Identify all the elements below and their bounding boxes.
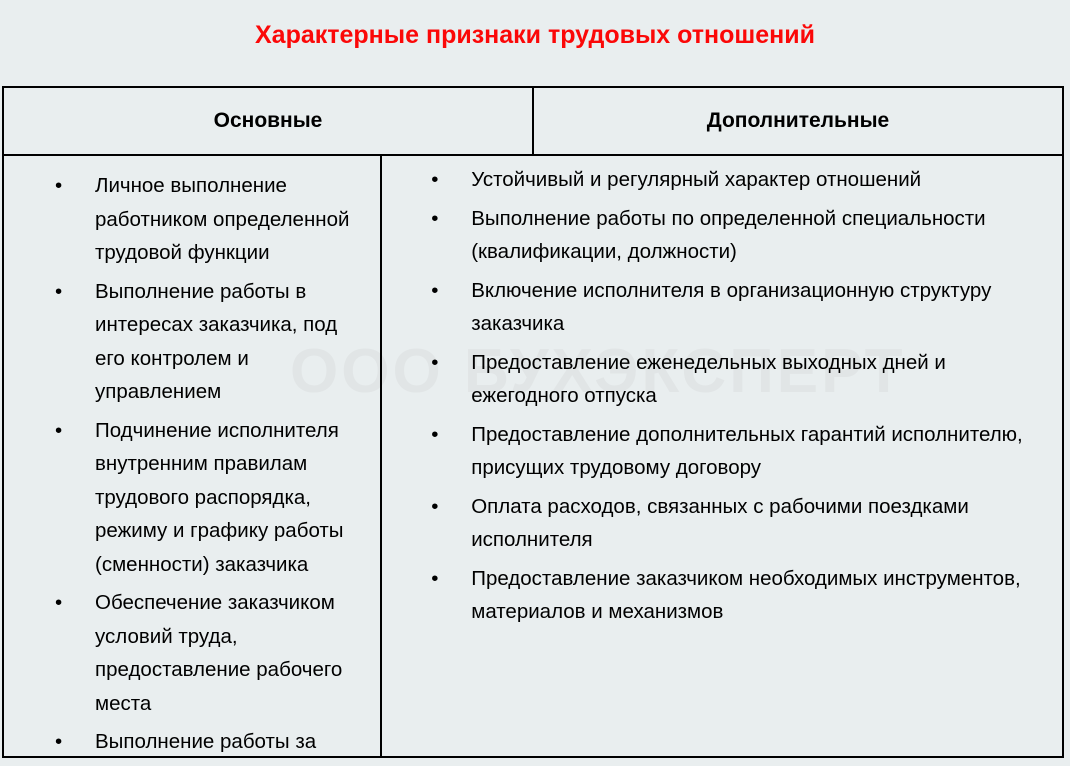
list-item: • Предоставление дополнительных гарантий… <box>382 418 1062 485</box>
comparison-table: Основные Дополнительные • Личное выполне… <box>2 86 1064 758</box>
list-item-label: Устойчивый и регулярный характер отношен… <box>471 163 1044 197</box>
list-item: • Личное выполнение работником определен… <box>4 169 380 270</box>
list-item: • Включение исполнителя в организационну… <box>382 274 1062 341</box>
list-item-label: Предоставление еженедельных выходных дне… <box>471 346 1044 413</box>
list-item: • Устойчивый и регулярный характер отнош… <box>382 163 1062 197</box>
list-item: • Предоставление заказчиком необходимых … <box>382 562 1062 629</box>
list-item: • Выполнение работы в интересах заказчик… <box>4 275 380 409</box>
table-header-row: Основные Дополнительные <box>4 88 1062 156</box>
list-item-label: Личное выполнение работником определенно… <box>95 169 362 270</box>
bullet-icon: • <box>431 490 438 524</box>
bullet-icon: • <box>431 418 438 452</box>
bullet-icon: • <box>55 414 62 448</box>
bullet-icon: • <box>55 169 62 203</box>
list-item-label: Выполнение работы по определенной специа… <box>471 202 1044 269</box>
table-cell-additional: • Устойчивый и регулярный характер отнош… <box>382 156 1062 756</box>
list-item-label: Выполнение работы за плату, выплачиваему… <box>95 725 362 756</box>
bullet-icon: • <box>55 725 62 756</box>
bullet-icon: • <box>431 346 438 380</box>
table-body-row: • Личное выполнение работником определен… <box>4 156 1062 756</box>
list-item-label: Подчинение исполнителя внутренним правил… <box>95 414 362 582</box>
list-item-label: Оплата расходов, связанных с рабочими по… <box>471 490 1044 557</box>
list-item: • Выполнение работы по определенной спец… <box>382 202 1062 269</box>
list-item: • Предоставление еженедельных выходных д… <box>382 346 1062 413</box>
list-item: • Обеспечение заказчиком условий труда, … <box>4 586 380 720</box>
main-signs-list: • Личное выполнение работником определен… <box>4 169 380 756</box>
list-item: • Выполнение работы за плату, выплачивае… <box>4 725 380 756</box>
list-item-label: Предоставление заказчиком необходимых ин… <box>471 562 1044 629</box>
list-item: • Подчинение исполнителя внутренним прав… <box>4 414 380 582</box>
bullet-icon: • <box>431 274 438 308</box>
table-cell-main: • Личное выполнение работником определен… <box>4 156 382 756</box>
page-root: ООО БУХЭКСПЕРТ Характерные признаки труд… <box>0 0 1070 766</box>
page-title: Характерные признаки трудовых отношений <box>0 21 1070 50</box>
bullet-icon: • <box>55 275 62 309</box>
additional-signs-list: • Устойчивый и регулярный характер отнош… <box>382 163 1062 629</box>
table-header-cell-main: Основные <box>4 88 534 154</box>
bullet-icon: • <box>431 202 438 236</box>
table-header-cell-additional: Дополнительные <box>534 88 1062 154</box>
list-item: • Оплата расходов, связанных с рабочими … <box>382 490 1062 557</box>
list-item-label: Предоставление дополнительных гарантий и… <box>471 418 1044 485</box>
list-item-label: Выполнение работы в интересах заказчика,… <box>95 275 362 409</box>
bullet-icon: • <box>55 586 62 620</box>
bullet-icon: • <box>431 163 438 197</box>
list-item-label: Включение исполнителя в организационную … <box>471 274 1044 341</box>
list-item-label: Обеспечение заказчиком условий труда, пр… <box>95 586 362 720</box>
bullet-icon: • <box>431 562 438 596</box>
